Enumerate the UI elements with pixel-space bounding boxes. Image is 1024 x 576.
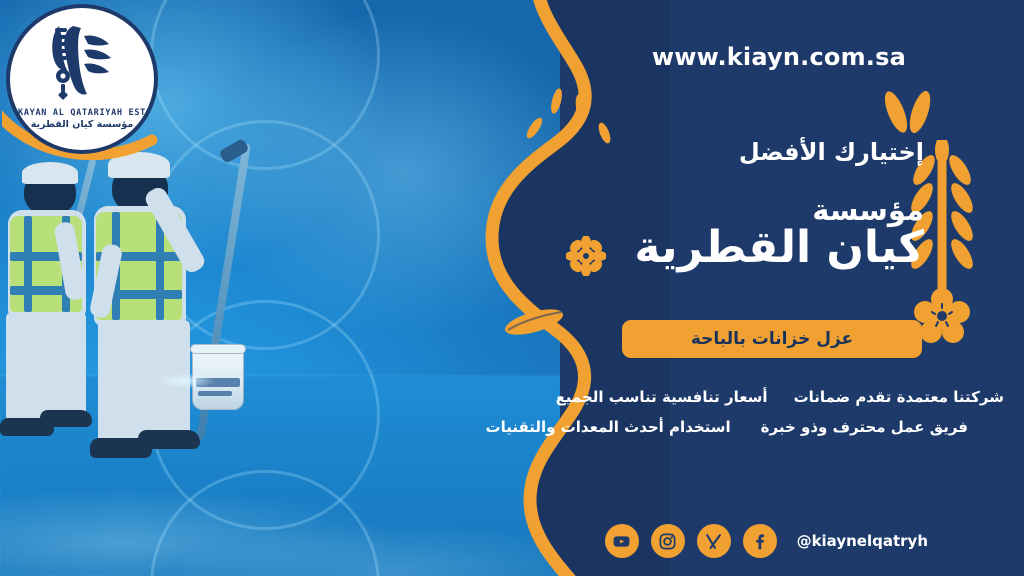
feature-item: شركتنا معتمدة تقدم ضمانات — [794, 388, 1004, 406]
x-twitter-icon[interactable] — [697, 524, 731, 558]
logo-arabic-name: مؤسسة كيان القطرية — [31, 119, 133, 130]
worker-right — [78, 148, 278, 468]
social-handle[interactable]: @kiaynelqatryh — [797, 532, 928, 550]
logo-circle: KAYAN AL QATARIYAH EST مؤسسة كيان القطري… — [6, 4, 158, 154]
feature-item: استخدام أحدث المعدات والتقنيات — [486, 418, 731, 436]
logo-english-name: KAYAN AL QATARIYAH EST — [18, 108, 146, 118]
social-bar: @kiaynelqatryh — [605, 524, 928, 558]
logo-badge[interactable]: KAYAN AL QATARIYAH EST مؤسسة كيان القطري… — [6, 4, 158, 154]
features-row-1: شركتنا معتمدة تقدم ضمانات أسعار تنافسية … — [504, 388, 1004, 406]
logo-calligraphy-mark — [43, 20, 121, 106]
paint-splash — [150, 372, 220, 390]
features-row-2: فريق عمل محترف وذو خبرة استخدام أحدث الم… — [504, 418, 1004, 436]
website-url[interactable]: www.kiayn.com.sa — [652, 43, 906, 71]
feature-item: أسعار تنافسية تناسب الجميع — [556, 388, 768, 406]
instagram-icon[interactable] — [651, 524, 685, 558]
leaf-accent-ornament — [500, 300, 570, 348]
features-list: شركتنا معتمدة تقدم ضمانات أسعار تنافسية … — [504, 388, 1004, 448]
youtube-icon[interactable] — [605, 524, 639, 558]
content-panel: www.kiayn.com.sa — [504, 0, 1024, 576]
feature-item: فريق عمل محترف وذو خبرة — [761, 418, 968, 436]
facebook-icon[interactable] — [743, 524, 777, 558]
flower-ornament — [914, 288, 970, 348]
brand-name: كيان القطرية — [634, 224, 924, 272]
banner-root: www.kiayn.com.sa — [0, 0, 1024, 576]
service-cta-button[interactable]: عزل خزانات بالباحة — [622, 320, 922, 358]
small-flower-ornament — [566, 236, 606, 280]
tagline-text: إختيارك الأفضل — [739, 138, 924, 166]
